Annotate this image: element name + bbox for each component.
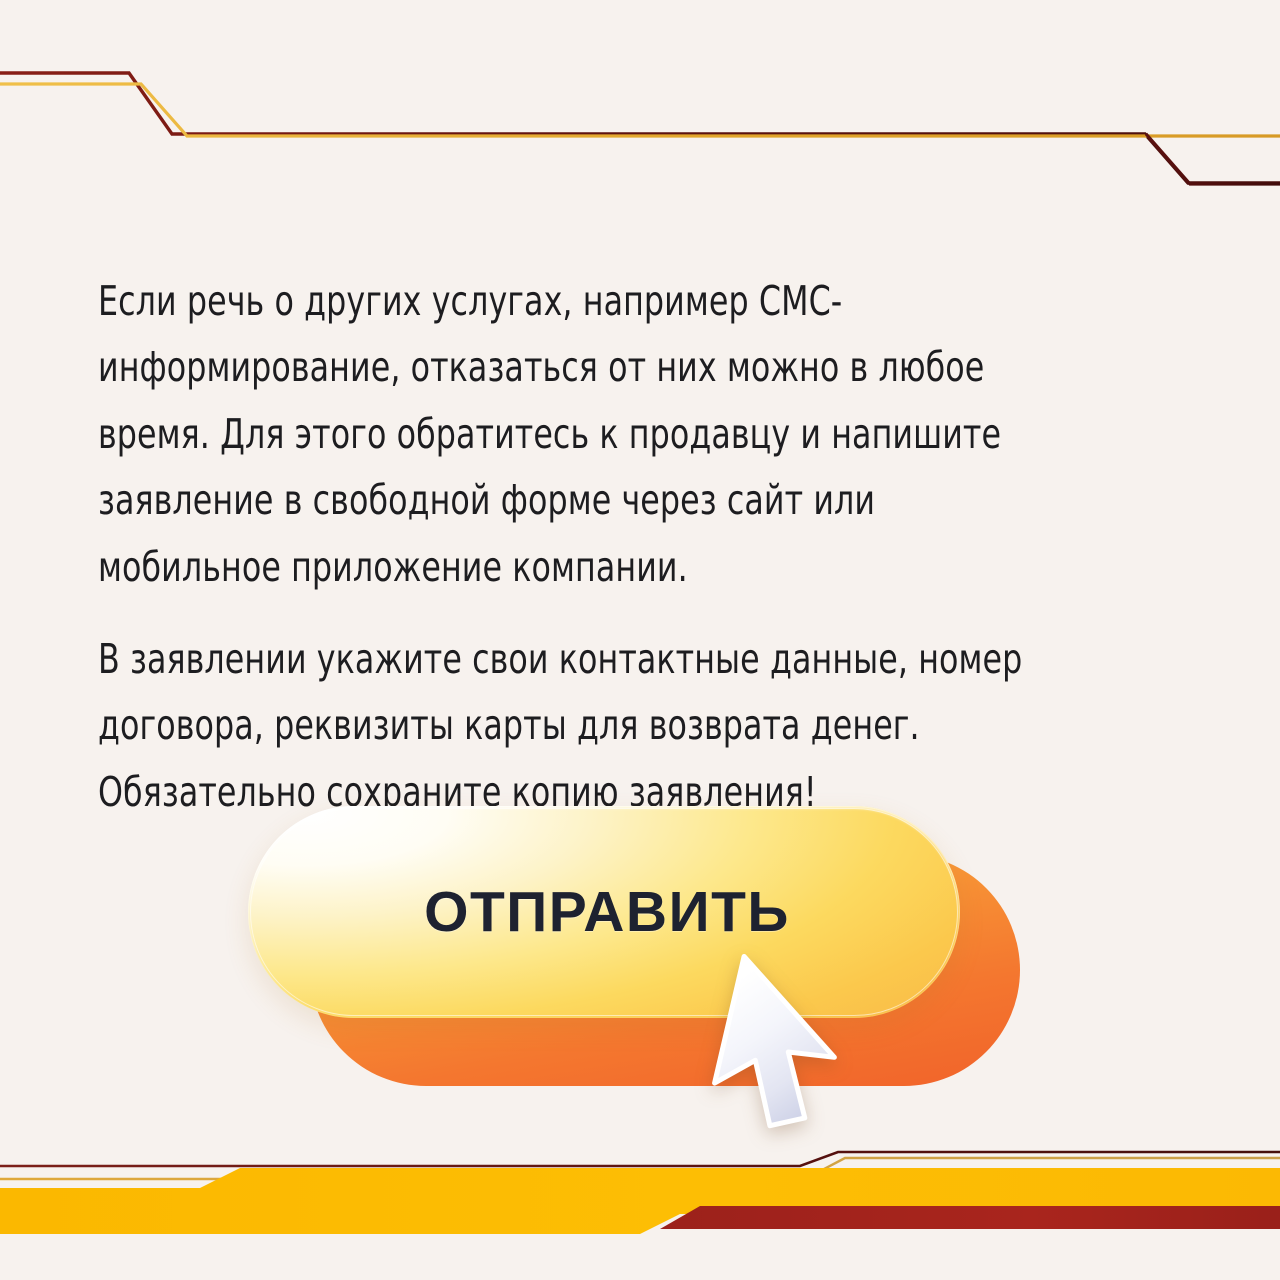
bottom-bar-art xyxy=(0,1130,1280,1280)
mouse-cursor-arrow-icon xyxy=(686,954,876,1134)
promo-card: Если речь о других услугах, например СМС… xyxy=(0,0,1280,1280)
paragraph-1: Если речь о других услугах, например СМС… xyxy=(98,268,1057,600)
top-maroon-line xyxy=(0,73,1280,183)
send-button-group[interactable]: ОТПРАВИТЬ xyxy=(248,806,1028,1106)
body-copy: Если речь о других услугах, например СМС… xyxy=(98,268,1213,825)
send-button-label: ОТПРАВИТЬ xyxy=(418,879,790,945)
bottom-red-bar xyxy=(660,1206,1280,1229)
top-gold-line xyxy=(0,84,1280,136)
top-right-maroon-tail xyxy=(1147,135,1280,184)
paragraph-2: В заявлении укажите свои контактные данн… xyxy=(98,626,1057,825)
